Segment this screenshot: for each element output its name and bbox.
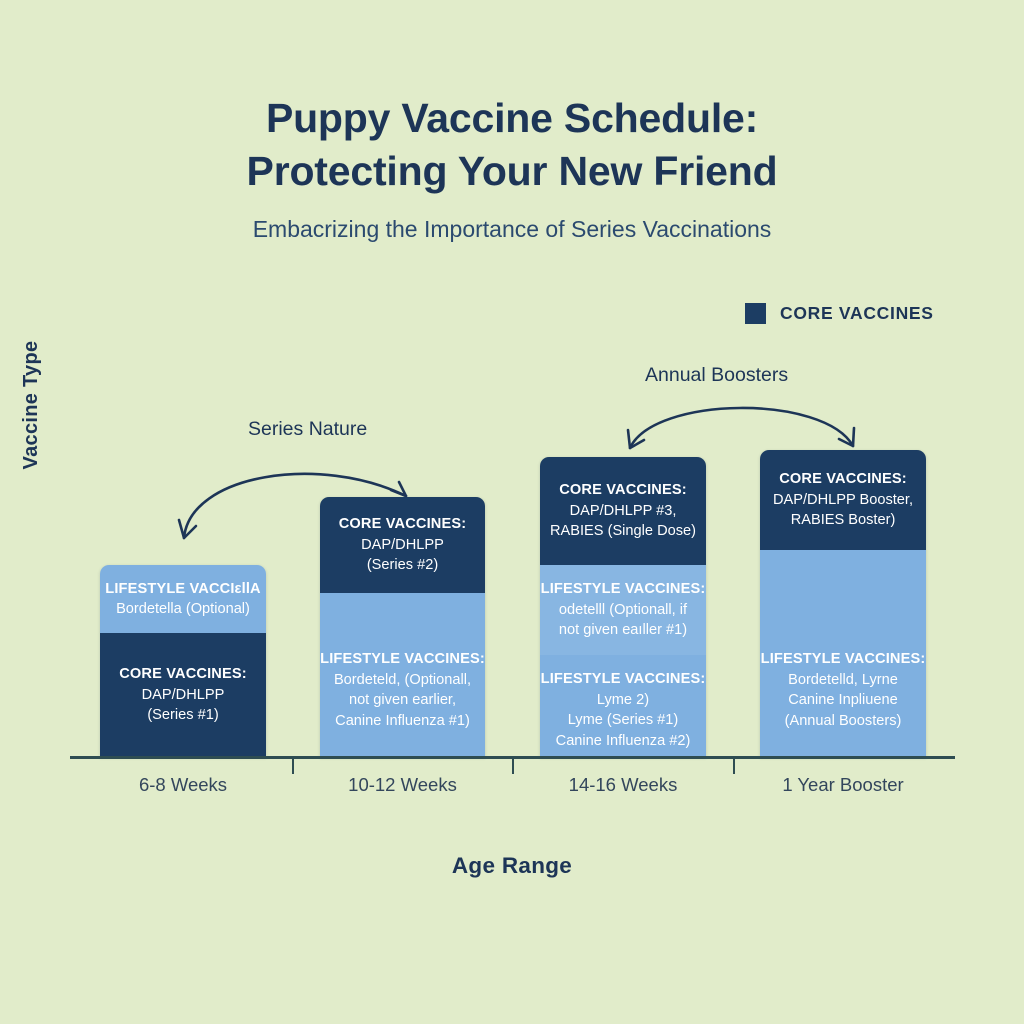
bar-segment-lifestyle[interactable]: LIFESTYLE VACCINES:odetelll (Optionall, … [540,565,706,655]
legend[interactable]: CORE VACCINES [745,303,934,324]
segment-line: Bordetella (Optional) [116,599,250,620]
segment-line: odetelll (Optionall, if [559,600,687,621]
segment-line: Canine Influenza #1) [335,711,470,732]
segment-line: (Series #1) [147,705,218,726]
segment-line: Lyme 2) [597,690,649,711]
segment-line: Bordetelld, Lyrne [788,670,898,691]
bar-segment-lifestyle[interactable]: LIFESTYLE VACCINES:Bordetelld, LyrneCani… [760,550,926,757]
bar-14-16-weeks[interactable]: CORE VACCINES:DAP/DHLPP #3,RABIES (Singl… [540,457,706,757]
bar-segment-lifestyle[interactable]: LIFESTYLE VACCINES:Bordeteld, (Optionall… [320,593,485,757]
bar-1-year-booster[interactable]: CORE VACCINES:DAP/DHLPP Booster,RABIES B… [760,450,926,757]
x-tick-label-10-12-weeks: 10-12 Weeks [320,774,485,796]
bar-segment-core[interactable]: CORE VACCINES:DAP/DHLPP(Series #1) [100,633,266,757]
segment-heading: LIFESTYLE VACCINES: [761,649,926,670]
page-title-line-2: Protecting Your New Friend [0,145,1024,198]
segment-heading: LIFESTYLE VACCINES: [541,579,706,600]
page-subtitle: Embacrizing the Importance of Series Vac… [0,215,1024,243]
segment-heading: CORE VACCINES: [779,469,907,490]
annotation-label-annual-boosters: Annual Boosters [645,364,788,387]
x-tick-label-1-year-booster: 1 Year Booster [760,774,926,796]
x-tick-label-14-16-weeks: 14-16 Weeks [540,774,706,796]
header: Puppy Vaccine Schedule: Protecting Your … [0,92,1024,243]
segment-heading: CORE VACCINES: [119,664,247,685]
segment-line: not given earlier, [349,690,456,711]
segment-line: not given eaıller #1) [559,620,687,641]
segment-line: Bordeteld, (Optionall, [334,670,471,691]
segment-line: DAP/DHLPP [361,535,444,556]
segment-heading: LIFESTYLE VACCIεllA [105,579,260,600]
infographic-canvas: Puppy Vaccine Schedule: Protecting Your … [0,0,1024,1024]
x-axis-title: Age Range [0,853,1024,879]
x-axis-tick-1 [292,757,294,774]
segment-heading: CORE VACCINES: [339,514,467,535]
segment-heading: LIFESTYLE VACCINES: [320,649,485,670]
y-axis-title: Vaccine Type [20,295,43,515]
segment-heading: CORE VACCINES: [559,480,687,501]
segment-line: (Series #2) [367,555,438,576]
x-tick-label-6-8-weeks: 6-8 Weeks [100,774,266,796]
segment-line: Canine Inpliuene [788,690,898,711]
bar-segment-lifestyle[interactable]: LIFESTYLE VACCINES:Lyme 2)Lyme (Series #… [540,655,706,757]
bar-segment-core[interactable]: CORE VACCINES:DAP/DHLPP(Series #2) [320,497,485,593]
segment-line: RABIES Boster) [791,510,896,531]
segment-line: (Annual Boosters) [785,711,902,732]
segment-line: Lyme (Series #1) [568,710,679,731]
segment-line: DAP/DHLPP #3, [570,501,677,522]
x-axis-line [70,756,955,759]
x-axis-tick-2 [512,757,514,774]
annotation-label-series-nature: Series Nature [248,418,367,441]
bar-segment-core[interactable]: CORE VACCINES:DAP/DHLPP #3,RABIES (Singl… [540,457,706,565]
bar-6-8-weeks[interactable]: LIFESTYLE VACCIεllABordetella (Optional)… [100,565,266,757]
legend-swatch-core-vaccines [745,303,766,324]
bar-segment-core[interactable]: CORE VACCINES:DAP/DHLPP Booster,RABIES B… [760,450,926,550]
segment-line: Canine Influenza #2) [556,731,691,752]
x-axis-tick-3 [733,757,735,774]
segment-heading: LIFESTYLE VACCINES: [541,669,706,690]
page-title-line-1: Puppy Vaccine Schedule: [0,92,1024,145]
segment-line: DAP/DHLPP [142,685,225,706]
legend-label-core-vaccines: CORE VACCINES [780,303,934,324]
segment-line: DAP/DHLPP Booster, [773,490,913,511]
bar-10-12-weeks[interactable]: CORE VACCINES:DAP/DHLPP(Series #2)LIFEST… [320,497,485,757]
segment-line: RABIES (Single Dose) [550,521,696,542]
bar-segment-lifestyle[interactable]: LIFESTYLE VACCIεllABordetella (Optional) [100,565,266,633]
